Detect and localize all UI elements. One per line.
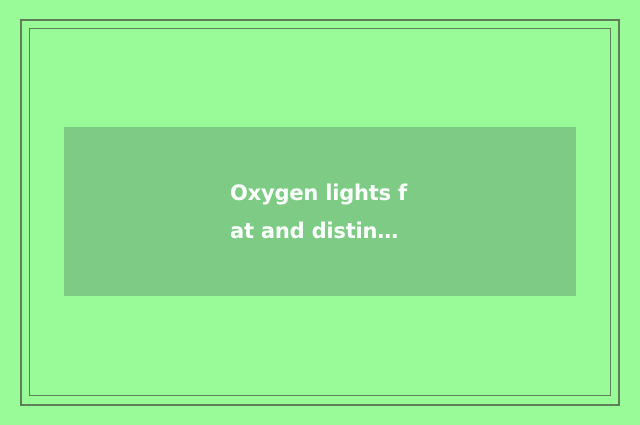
panel-text: Oxygen lights f at and distin… <box>230 174 407 250</box>
slide-canvas: Oxygen lights f at and distin… <box>0 0 640 425</box>
content-panel: Oxygen lights f at and distin… <box>64 127 576 296</box>
